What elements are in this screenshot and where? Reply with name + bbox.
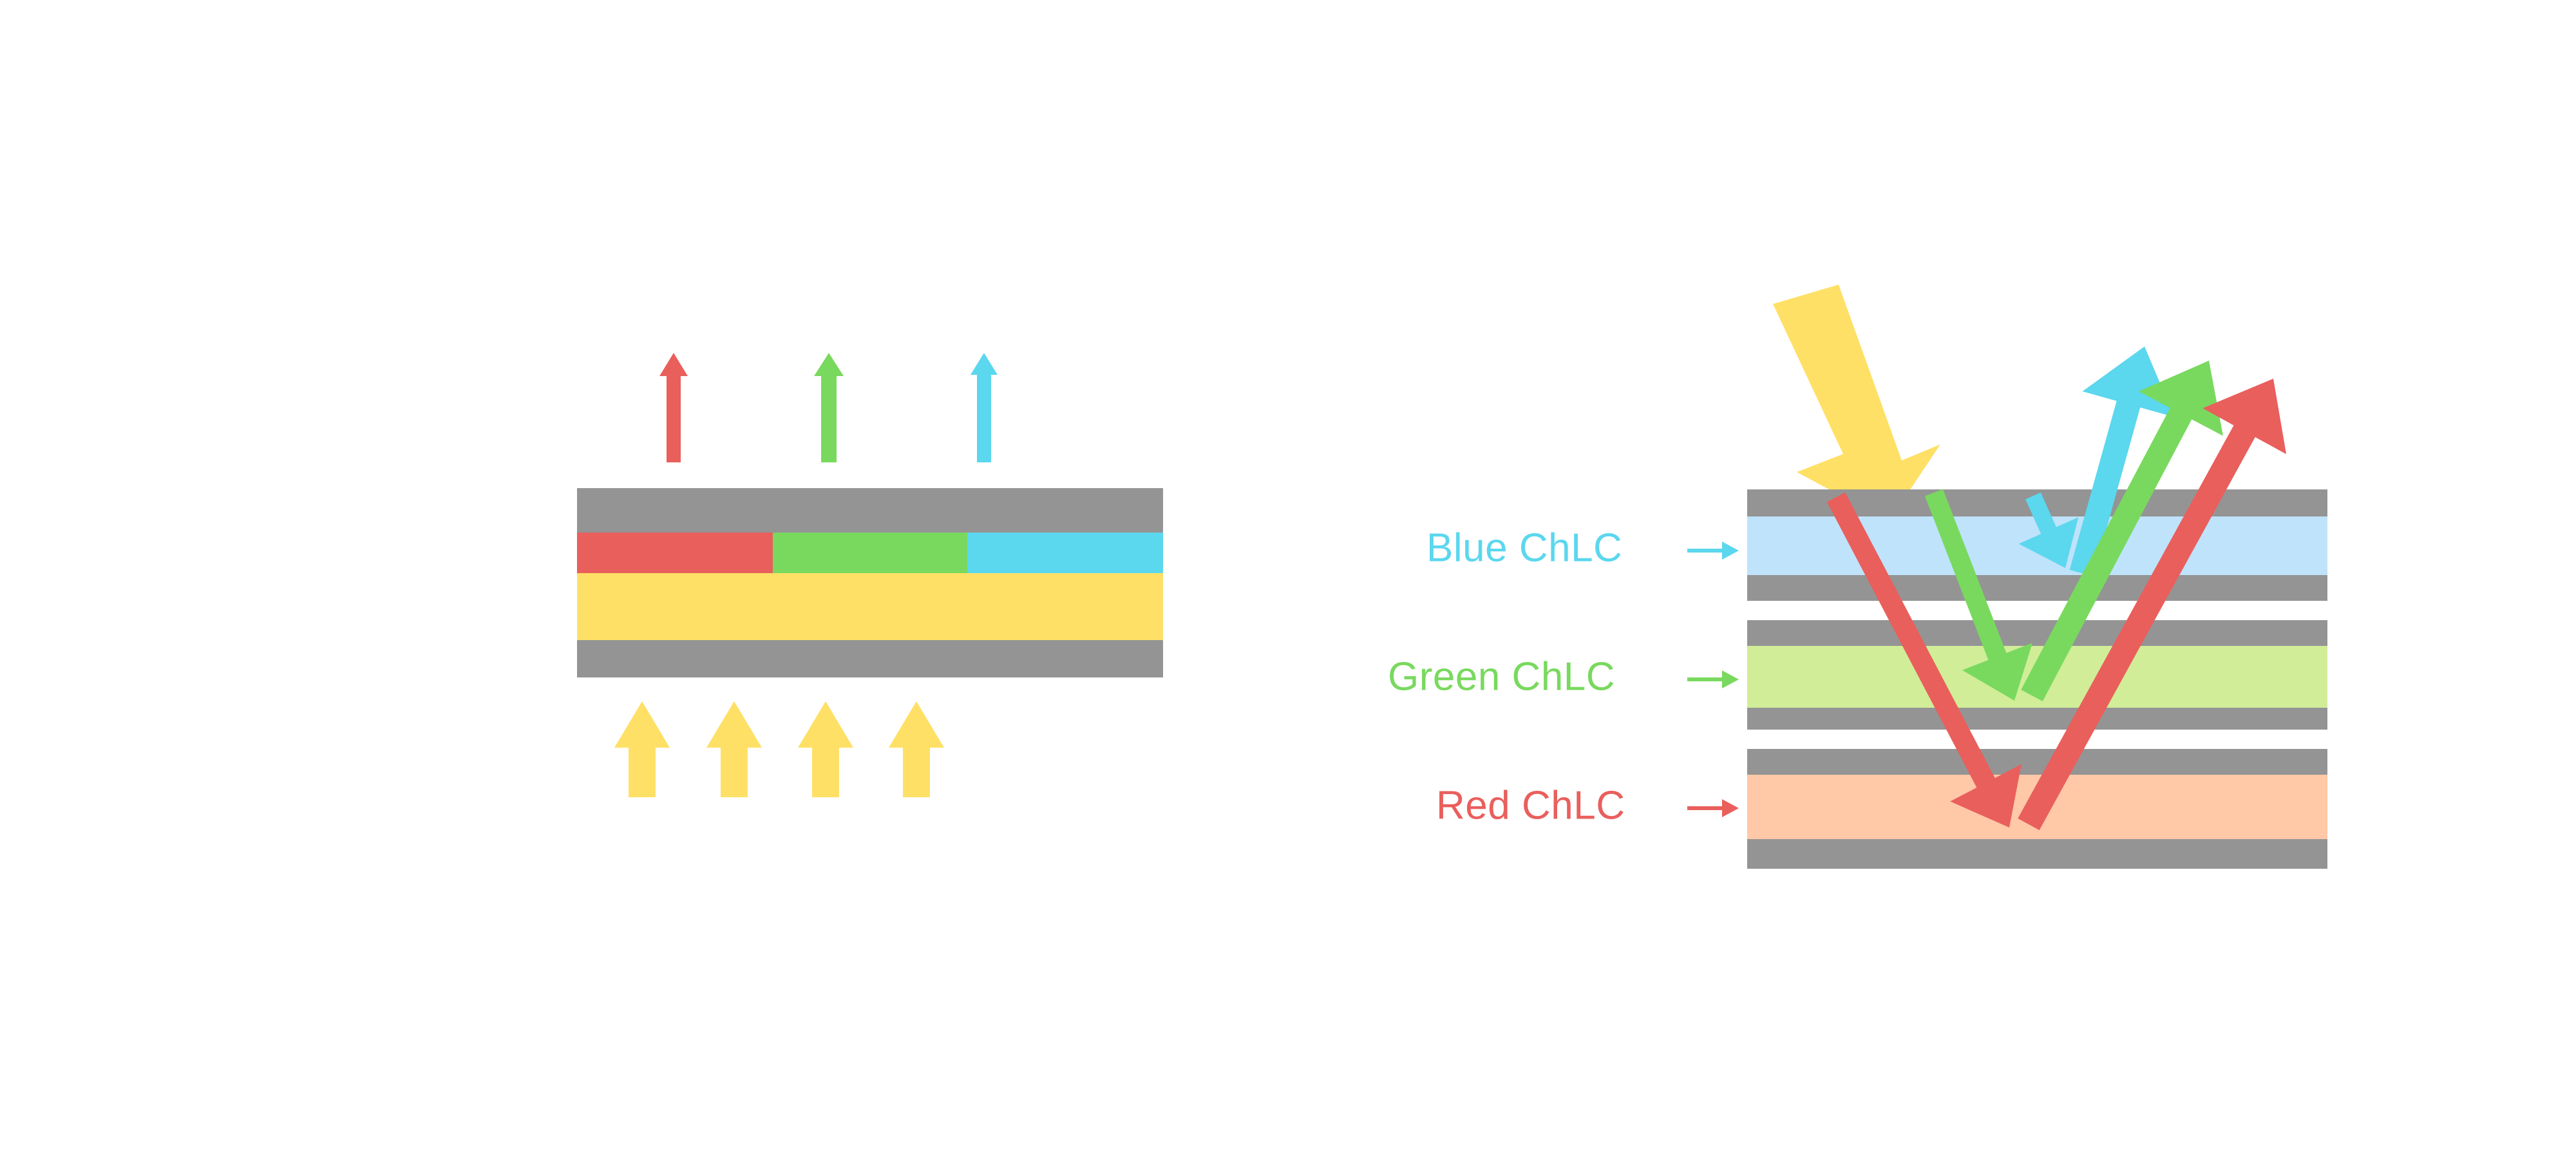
backlight-arrow-group [614, 701, 944, 797]
emitted-light-arrow-group [659, 353, 998, 462]
green-chlc-label-arrow-head [1722, 670, 1739, 688]
green-cell-bottom-electrode [1747, 708, 2327, 730]
green-filter-segment [773, 533, 967, 573]
blue-cell-bottom-electrode [1747, 575, 2327, 601]
red-chlc-label: Red ChLC [1436, 783, 1739, 828]
yellow-backlight-arrow-1 [614, 701, 670, 797]
cyan-filter-segment [967, 533, 1163, 573]
yellow-backlight-layer [577, 573, 1163, 640]
bottom-gray-substrate [577, 640, 1163, 677]
top-gray-substrate [577, 488, 1163, 533]
blue-chlc-label: Blue ChLC [1426, 525, 1739, 570]
cyan-emitted-arrow [971, 353, 998, 462]
left-display-stack [577, 488, 1163, 677]
diagram-svg: Blue ChLC Green ChLC Red ChLC [0, 0, 2576, 1154]
green-chlc-label-text: Green ChLC [1388, 654, 1615, 699]
red-cell-bottom-electrode [1747, 839, 2327, 869]
red-chlc-label-arrow-head [1722, 799, 1739, 817]
yellow-backlight-arrow-4 [889, 701, 944, 797]
green-emitted-arrow [814, 353, 844, 462]
diagram-canvas: Blue ChLC Green ChLC Red ChLC [0, 0, 2576, 1154]
left-panel-backlit-display [577, 353, 1163, 797]
yellow-backlight-arrow-3 [798, 701, 853, 797]
red-filter-segment [577, 533, 773, 573]
yellow-backlight-arrow-2 [706, 701, 762, 797]
blue-chlc-label-arrow-head [1722, 542, 1739, 560]
red-emitted-arrow [659, 353, 688, 462]
white-light-incident-arrow [1773, 285, 1940, 522]
green-cell-top-electrode [1747, 620, 2327, 646]
right-panel-chlc-stack: Blue ChLC Green ChLC Red ChLC [1388, 285, 2327, 869]
red-chlc-label-text: Red ChLC [1436, 783, 1625, 828]
chlc-label-group: Blue ChLC Green ChLC Red ChLC [1388, 525, 1739, 828]
blue-chlc-label-text: Blue ChLC [1426, 525, 1622, 570]
red-cell-top-electrode [1747, 749, 2327, 775]
green-chlc-label: Green ChLC [1388, 654, 1739, 699]
